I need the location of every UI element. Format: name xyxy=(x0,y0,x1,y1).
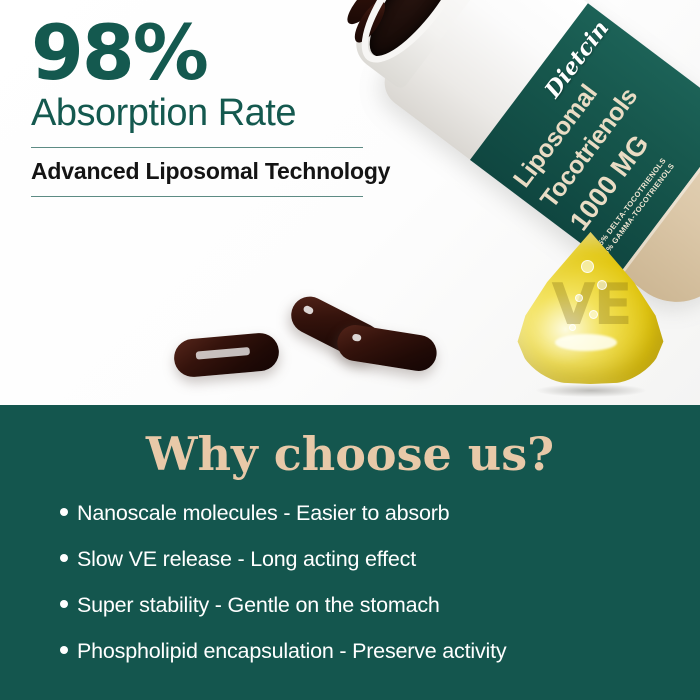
divider-top xyxy=(31,147,363,148)
list-item-label: Slow VE release - Long acting effect xyxy=(77,547,416,572)
bubble-icon xyxy=(581,260,594,273)
list-item: Super stability - Gentle on the stomach xyxy=(60,593,700,618)
bullet-icon xyxy=(60,600,68,608)
bubble-icon xyxy=(597,280,607,290)
bubble-icon xyxy=(589,310,598,319)
why-choose-us-heading: Why choose us? xyxy=(0,427,700,481)
capsule-highlight xyxy=(352,333,362,341)
list-item: Nanoscale molecules - Easier to absorb xyxy=(60,501,700,526)
list-item-label: Phospholipid encapsulation - Preserve ac… xyxy=(77,639,506,664)
why-choose-us-panel: Why choose us? Nanoscale molecules - Eas… xyxy=(0,405,700,700)
marketing-image: 98% Absorption Rate Advanced Liposomal T… xyxy=(0,0,700,700)
oil-drop: VE xyxy=(503,232,678,405)
oil-drop-shadow xyxy=(536,384,646,397)
list-item-label: Super stability - Gentle on the stomach xyxy=(77,593,440,618)
benefits-list: Nanoscale molecules - Easier to absorb S… xyxy=(0,501,700,664)
capsule-highlight xyxy=(196,347,250,360)
bubble-icon xyxy=(569,324,576,331)
bullet-icon xyxy=(60,508,68,516)
capsule-highlight xyxy=(302,305,314,316)
bullet-icon xyxy=(60,554,68,562)
softgel-capsule xyxy=(173,331,281,378)
top-panel: 98% Absorption Rate Advanced Liposomal T… xyxy=(0,0,700,405)
list-item-label: Nanoscale molecules - Easier to absorb xyxy=(77,501,449,526)
percent-value: 98% xyxy=(31,18,401,88)
list-item: Phospholipid encapsulation - Preserve ac… xyxy=(60,639,700,664)
bubble-icon xyxy=(575,294,583,302)
divider-bottom xyxy=(31,196,363,197)
list-item: Slow VE release - Long acting effect xyxy=(60,547,700,572)
bullet-icon xyxy=(60,646,68,654)
oil-drop-highlight xyxy=(555,334,617,351)
vitamin-e-label: VE xyxy=(531,272,651,338)
